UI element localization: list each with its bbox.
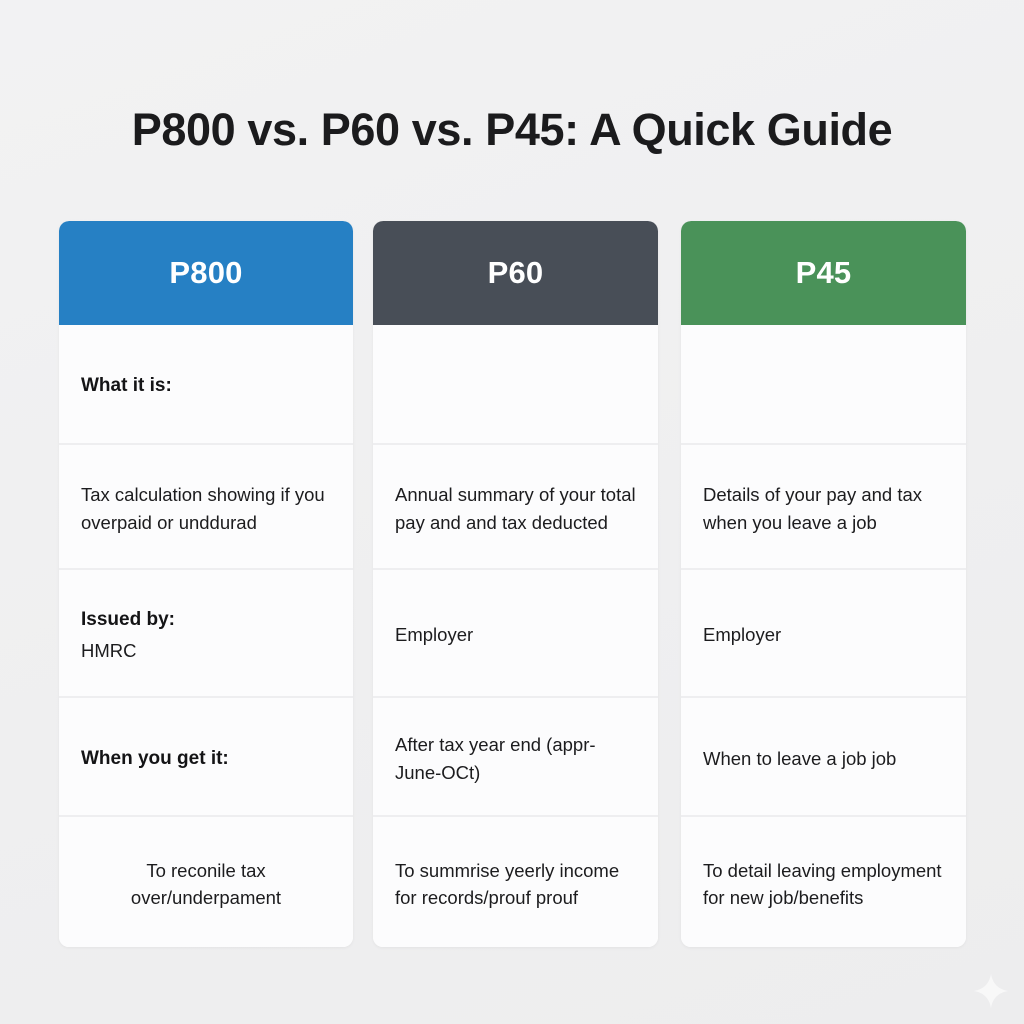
column-gap-2 xyxy=(658,221,681,947)
cell-p60-description: Annual summary of your total pay and and… xyxy=(373,445,658,570)
sparkle-icon xyxy=(972,972,1010,1010)
cell-label: When you get it: xyxy=(81,745,331,773)
table-column-p800: P800 What it is: Tax calculation showing… xyxy=(59,221,353,947)
cell-subtext: HMRC xyxy=(81,637,331,664)
page-background: P800 vs. P60 vs. P45: A Quick Guide P800… xyxy=(0,0,1024,1024)
cell-p800-when-you-get-it: When you get it: xyxy=(59,698,353,817)
cell-p800-issued-by: Issued by: HMRC xyxy=(59,570,353,698)
cell-text: Annual summary of your total pay and and… xyxy=(395,481,636,535)
cell-p60-issued-by: Employer xyxy=(373,570,658,698)
cell-text: To summrise yeerly income for records/pr… xyxy=(395,857,636,911)
column-header-p60: P60 xyxy=(373,221,658,325)
cell-text: Employer xyxy=(395,621,636,648)
cell-p60-what-it-is xyxy=(373,325,658,445)
cell-text: To reconile tax over/underpament xyxy=(81,857,331,911)
column-header-p800: P800 xyxy=(59,221,353,325)
cell-p60-purpose: To summrise yeerly income for records/pr… xyxy=(373,817,658,947)
column-body-p800: What it is: Tax calculation showing if y… xyxy=(59,325,353,947)
page-title: P800 vs. P60 vs. P45: A Quick Guide xyxy=(0,104,1024,156)
cell-p45-what-it-is xyxy=(681,325,966,445)
cell-text: Details of your pay and tax when you lea… xyxy=(703,481,944,535)
cell-p800-description: Tax calculation showing if you overpaid … xyxy=(59,445,353,570)
column-body-p60: Annual summary of your total pay and and… xyxy=(373,325,658,947)
cell-p800-what-it-is: What it is: xyxy=(59,325,353,445)
cell-text: To detail leaving employment for new job… xyxy=(703,857,944,911)
column-gap-1 xyxy=(353,221,373,947)
column-body-p45: Details of your pay and tax when you lea… xyxy=(681,325,966,947)
cell-p45-purpose: To detail leaving employment for new job… xyxy=(681,817,966,947)
cell-text: Tax calculation showing if you overpaid … xyxy=(81,481,331,535)
cell-label: Issued by: xyxy=(81,606,331,634)
cell-text: When to leave a job job xyxy=(703,745,944,772)
cell-p45-description: Details of your pay and tax when you lea… xyxy=(681,445,966,570)
column-header-p45: P45 xyxy=(681,221,966,325)
table-column-p60: P60 Annual summary of your total pay and… xyxy=(373,221,658,947)
cell-p800-purpose: To reconile tax over/underpament xyxy=(59,817,353,947)
cell-text: Employer xyxy=(703,621,944,648)
cell-p60-when-you-get-it: After tax year end (appr-June-OCt) xyxy=(373,698,658,817)
cell-p45-when-you-get-it: When to leave a job job xyxy=(681,698,966,817)
cell-text: After tax year end (appr-June-OCt) xyxy=(395,731,636,785)
comparison-table: P800 What it is: Tax calculation showing… xyxy=(59,221,966,947)
cell-label: What it is: xyxy=(81,372,331,400)
table-column-p45: P45 Details of your pay and tax when you… xyxy=(681,221,966,947)
cell-p45-issued-by: Employer xyxy=(681,570,966,698)
